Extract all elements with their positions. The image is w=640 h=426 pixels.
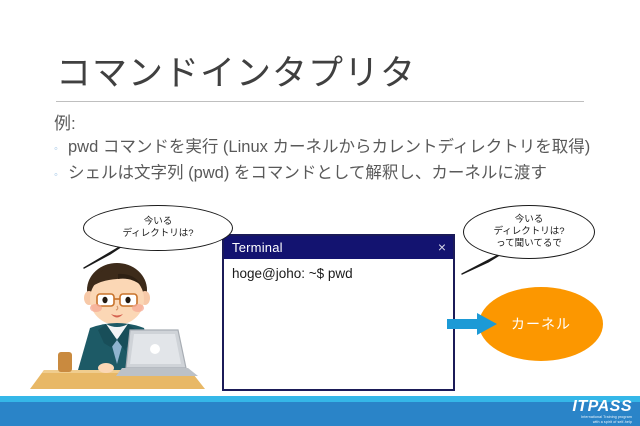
close-icon[interactable]: ×: [438, 238, 446, 256]
kernel-label: カーネル: [511, 314, 571, 334]
terminal-window[interactable]: Terminal × hoge@joho: ~$ pwd: [222, 234, 455, 391]
slide-canvas: コマンドインタプリタ 例: ◦ pwd コマンドを実行 (Linux カーネルか…: [0, 0, 640, 426]
speech-bubble-right-line-2: ディレクトリは?: [493, 226, 564, 238]
speech-bubble-left-line-2: ディレクトリは?: [122, 228, 193, 240]
itpass-tagline-line2: with a spirit of self-help: [572, 420, 632, 425]
terminal-titlebar[interactable]: Terminal ×: [224, 236, 453, 259]
page-title: コマンドインタプリタ: [56, 52, 416, 96]
bullet-item-1: ◦ pwd コマンドを実行 (Linux カーネルからカレントディレクトリを取得…: [54, 137, 599, 161]
terminal-title: Terminal: [232, 240, 283, 255]
kernel-shape: カーネル: [479, 287, 603, 361]
body-content: 例: ◦ pwd コマンドを実行 (Linux カーネルからカレントディレクトリ…: [54, 112, 599, 187]
bullet-item-2: ◦ シェルは文字列 (pwd) をコマンドとして解釈し、カーネルに渡す: [54, 163, 599, 187]
lead-text: 例:: [54, 112, 599, 135]
bullet-text-1: pwd コマンドを実行 (Linux カーネルからカレントディレクトリを取得): [68, 137, 599, 158]
speech-bubble-left-line-1: 今いる: [144, 216, 173, 228]
terminal-body[interactable]: hoge@joho: ~$ pwd: [224, 259, 453, 283]
footer-band: [0, 402, 640, 426]
title-divider: [56, 101, 584, 102]
speech-bubble-right-line-1: 今いる: [515, 214, 544, 226]
speech-bubble-right: 今いる ディレクトリは? って聞いてるで: [463, 205, 595, 259]
bullet-text-2: シェルは文字列 (pwd) をコマンドとして解釈し、カーネルに渡す: [68, 163, 599, 184]
flow-arrow-icon: [447, 313, 497, 335]
itpass-logo-text: ITPASS: [572, 399, 632, 415]
terminal-prompt-line: hoge@joho: ~$ pwd: [232, 265, 453, 283]
itpass-logo: ITPASS International Training program wi…: [572, 399, 632, 424]
speech-bubble-right-line-3: って聞いてるで: [496, 238, 562, 250]
bullet-marker-icon: ◦: [54, 137, 68, 161]
bullet-marker-icon: ◦: [54, 163, 68, 187]
speech-bubble-left: 今いる ディレクトリは?: [83, 205, 233, 251]
